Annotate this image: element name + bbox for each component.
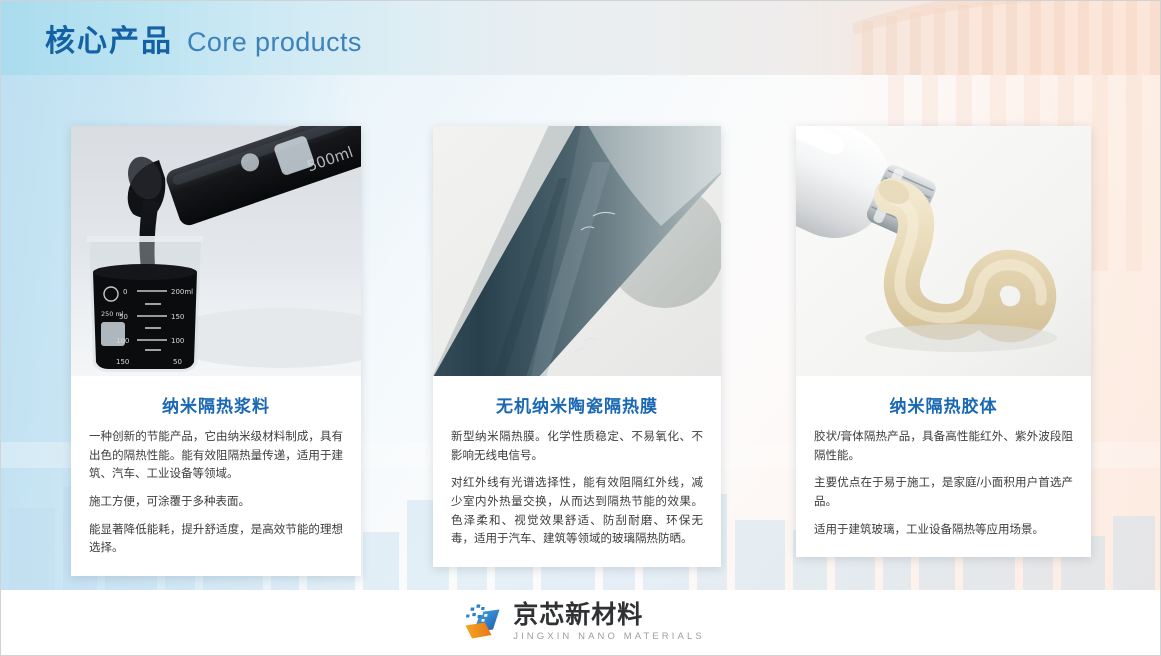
jingxin-pixel-parallelogram-logo-icon: [458, 603, 502, 643]
header-columns-watermark-icon: [852, 1, 1161, 75]
card-paragraph: 对红外线有光谱选择性，能有效阻隔红外线，减少室内外热量交换，从而达到隔热节能的效…: [451, 474, 703, 549]
product-card-grid: 500ml: [1, 75, 1161, 592]
svg-text:150: 150: [171, 313, 184, 321]
card-title: 纳米隔热浆料: [89, 392, 343, 417]
logo-name-en: JINGXIN NANO MATERIALS: [513, 632, 705, 642]
product-card-ceramic-insulation-film[interactable]: 无机纳米陶瓷隔热膜 新型纳米隔热膜。化学性质稳定、不易氧化、不影响无线电信号。 …: [433, 126, 721, 567]
page-title-cn: 核心产品: [45, 16, 173, 60]
svg-text:150: 150: [116, 358, 129, 366]
card-paragraph: 胶状/膏体隔热产品，具备高性能红外、紫外波段阻隔性能。: [814, 428, 1073, 465]
page-title: 核心产品 Core products: [45, 16, 362, 60]
card-paragraph: 适用于建筑玻璃，工业设备隔热等应用场景。: [814, 521, 1073, 540]
card-title: 无机纳米陶瓷隔热膜: [451, 392, 703, 417]
svg-text:0: 0: [123, 288, 127, 296]
slide-canvas: 核心产品 Core products: [0, 0, 1161, 656]
product-photo-slurry-beaker: 500ml: [71, 126, 361, 376]
svg-text:100: 100: [171, 337, 184, 345]
card-paragraph: 主要优点在于易于施工，是家庭/小面积用户首选产品。: [814, 474, 1073, 511]
logo-name-cn: 京芯新材料: [513, 603, 705, 628]
svg-text:200ml: 200ml: [171, 288, 193, 296]
slide-body: 500ml: [1, 75, 1161, 592]
product-photo-ceramic-film-roll: [433, 126, 721, 376]
svg-text:250 ml: 250 ml: [101, 310, 124, 318]
card-paragraph: 新型纳米隔热膜。化学性质稳定、不易氧化、不影响无线电信号。: [451, 428, 703, 465]
slide-footer: 京芯新材料 JINGXIN NANO MATERIALS: [1, 590, 1161, 655]
product-card-nano-insulation-slurry[interactable]: 500ml: [71, 126, 361, 576]
card-body: 无机纳米陶瓷隔热膜 新型纳米隔热膜。化学性质稳定、不易氧化、不影响无线电信号。 …: [433, 376, 721, 567]
page-title-en: Core products: [187, 27, 362, 58]
product-photo-paste-tube: [796, 126, 1091, 376]
card-body: 纳米隔热胶体 胶状/膏体隔热产品，具备高性能红外、紫外波段阻隔性能。 主要优点在…: [796, 376, 1091, 557]
card-paragraph: 一种创新的节能产品，它由纳米级材料制成，具有出色的隔热性能。能有效阻隔热量传递，…: [89, 428, 343, 484]
card-body: 纳米隔热浆料 一种创新的节能产品，它由纳米级材料制成，具有出色的隔热性能。能有效…: [71, 376, 361, 576]
card-paragraph: 施工方便，可涂覆于多种表面。: [89, 493, 343, 512]
card-paragraph: 能显著降低能耗，提升舒适度，是高效节能的理想选择。: [89, 521, 343, 558]
slide-header: 核心产品 Core products: [1, 1, 1161, 75]
logo-text-block: 京芯新材料 JINGXIN NANO MATERIALS: [513, 603, 705, 642]
svg-text:50: 50: [173, 358, 182, 366]
company-logo[interactable]: 京芯新材料 JINGXIN NANO MATERIALS: [458, 603, 705, 643]
product-card-nano-insulation-colloid[interactable]: 纳米隔热胶体 胶状/膏体隔热产品，具备高性能红外、紫外波段阻隔性能。 主要优点在…: [796, 126, 1091, 557]
card-title: 纳米隔热胶体: [814, 392, 1073, 417]
